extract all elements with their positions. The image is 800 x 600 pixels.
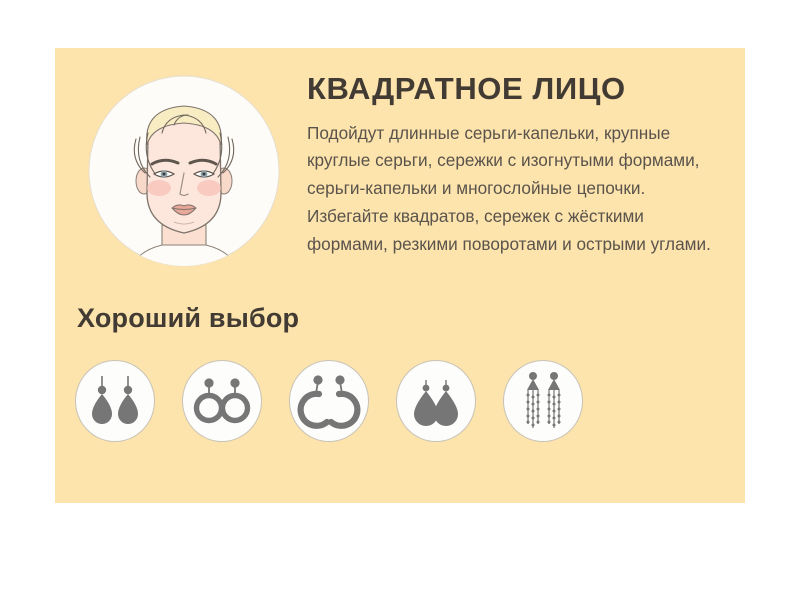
round-hoop-earrings-icon: [182, 360, 262, 442]
earring-icon-row: [75, 360, 635, 446]
layered-chain-earrings-icon: [503, 360, 583, 442]
description-text: Подойдут длинные серьги-капельки, крупны…: [307, 120, 727, 259]
description-line: Избегайте квадратов, сережек с жёсткими: [307, 203, 727, 231]
description-line: формами, резкими поворотами и острыми уг…: [307, 231, 727, 259]
description-line: серьги-капельки и многослойные цепочки.: [307, 175, 727, 203]
good-choice-heading: Хороший выбор: [77, 303, 299, 334]
description-line: круглые серьги, сережки с изогнутыми фор…: [307, 147, 727, 175]
curved-crescent-earrings-icon: [289, 360, 369, 442]
page-title: КВАДРАТНОЕ ЛИЦО: [307, 73, 727, 106]
short-teardrop-earrings-icon: [396, 360, 476, 442]
square-face-portrait: [88, 75, 280, 267]
infographic-card: КВАДРАТНОЕ ЛИЦО Подойдут длинные серьги-…: [55, 48, 745, 503]
description-line: Подойдут длинные серьги-капельки, крупны…: [307, 120, 727, 148]
teardrop-earrings-icon: [75, 360, 155, 442]
text-block: КВАДРАТНОЕ ЛИЦО Подойдут длинные серьги-…: [307, 73, 727, 259]
